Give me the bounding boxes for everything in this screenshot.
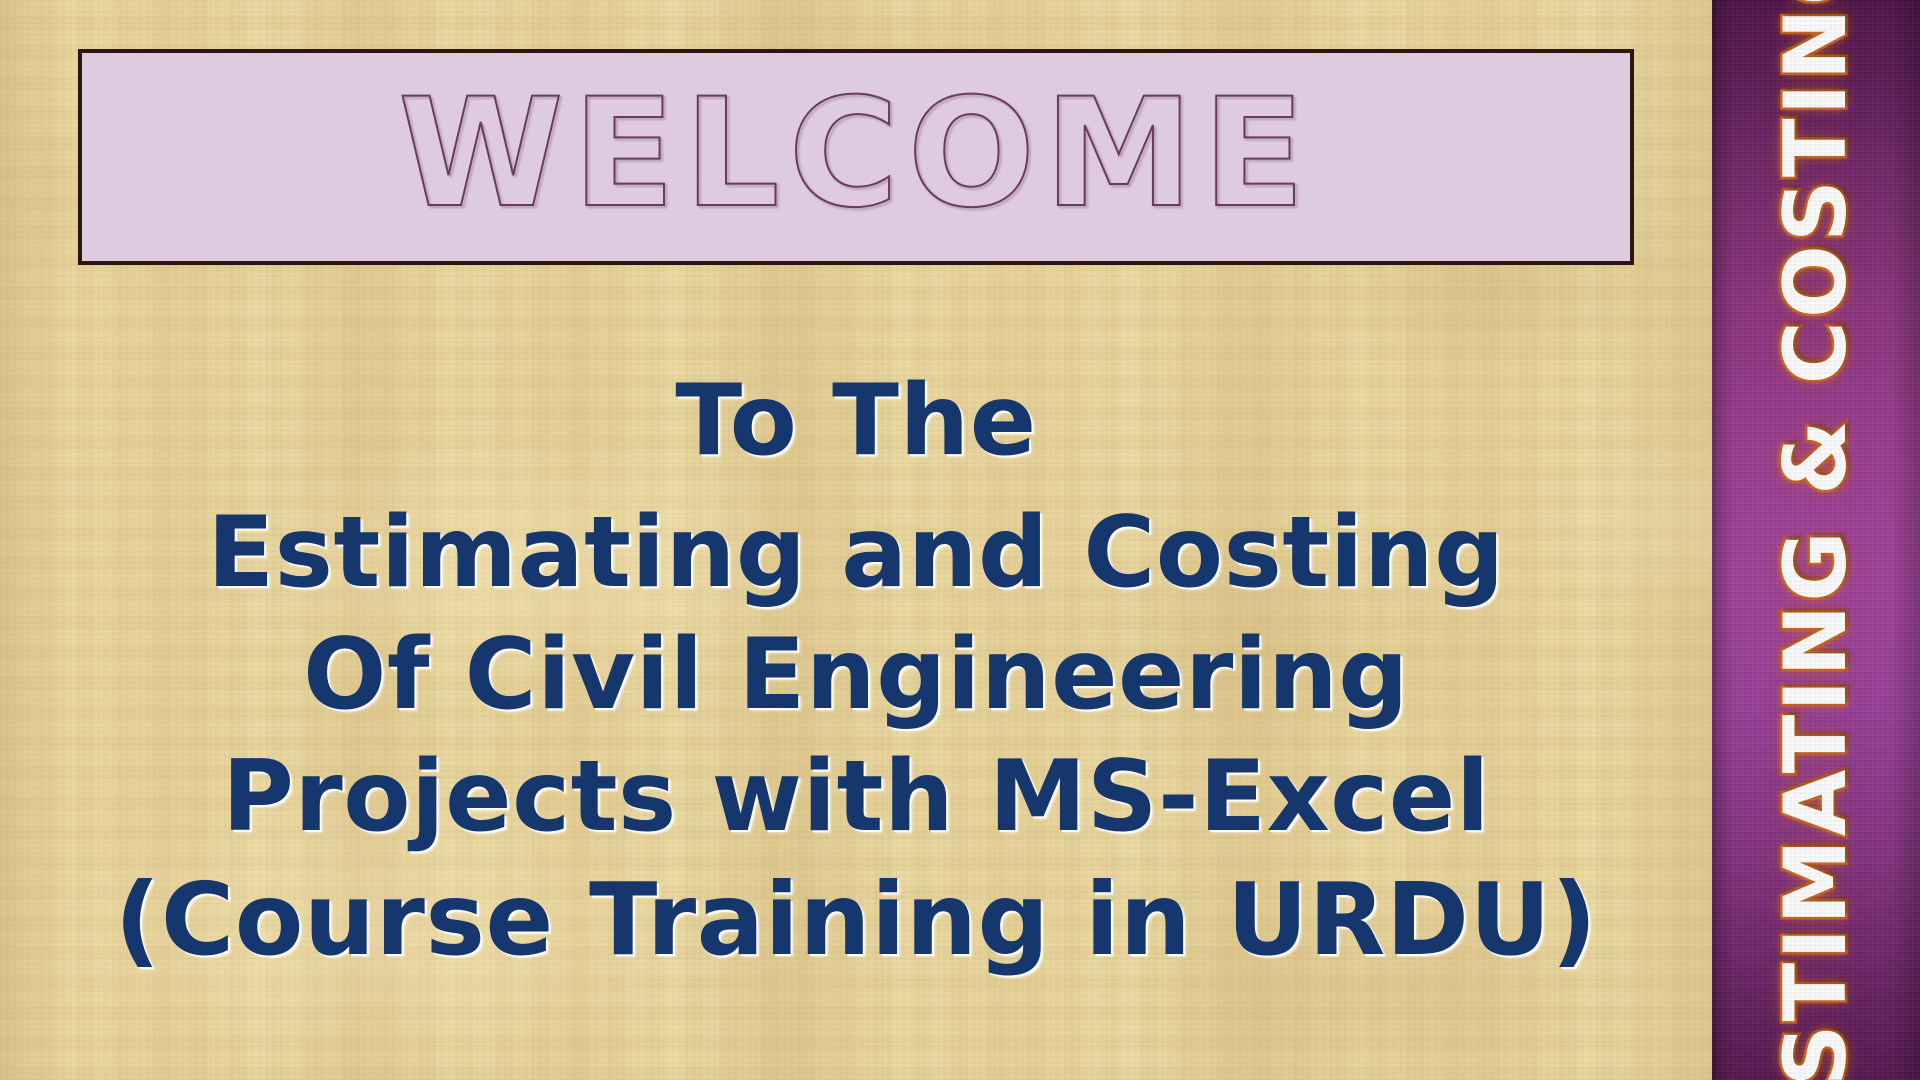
- welcome-title: WELCOME: [398, 79, 1314, 235]
- sidebar-rotated-wrapper: ESTIMATING & COSTING: [1766, 0, 1866, 1080]
- body-line-2: Estimating and Costing: [207, 504, 1505, 602]
- sidebar-band: ESTIMATING & COSTING: [1712, 0, 1920, 1080]
- welcome-banner-box: WELCOME: [78, 49, 1634, 265]
- body-line-5: (Course Training in URDU): [115, 870, 1598, 970]
- slide-canvas: WELCOME To The Estimating and Costing Of…: [0, 0, 1920, 1080]
- body-line-3: Of Civil Engineering: [303, 626, 1409, 724]
- sidebar-title: ESTIMATING & COSTING: [1766, 0, 1866, 1080]
- body-line-1: To The: [675, 372, 1036, 470]
- body-line-4: Projects with MS-Excel: [222, 748, 1490, 846]
- body-text-block: To The Estimating and Costing Of Civil E…: [0, 262, 1712, 1080]
